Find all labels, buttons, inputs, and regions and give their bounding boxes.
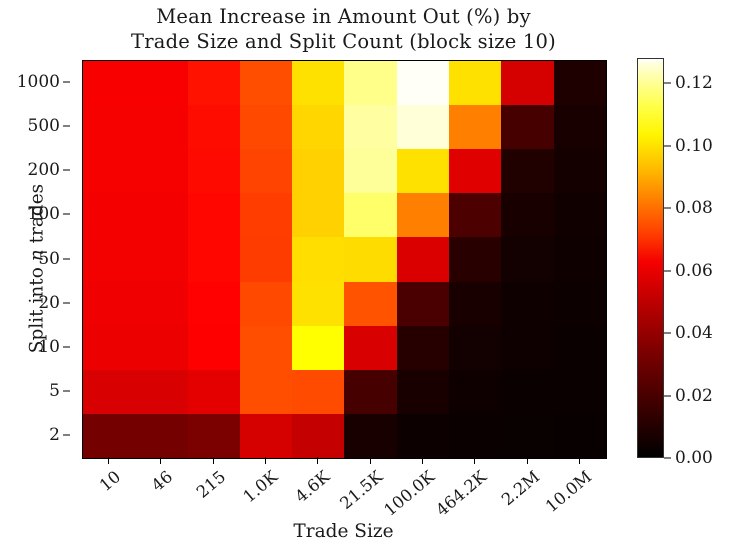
heatmap-cell: [501, 193, 553, 237]
y-tick-mark: [63, 82, 70, 83]
heatmap-cell: [449, 149, 501, 193]
x-tick-label: 1.0K: [239, 467, 281, 506]
colorbar-tick-label: 0.10: [675, 136, 713, 156]
colorbar-tick-label: 0.06: [675, 261, 713, 281]
heatmap-cell: [292, 237, 344, 281]
x-tick-mark: [317, 457, 318, 464]
y-tick-mark: [63, 258, 70, 259]
colorbar: 0.000.020.040.060.080.100.12: [637, 58, 664, 458]
heatmap-cell: [188, 105, 240, 149]
heatmap-cell: [397, 414, 449, 458]
heatmap-cell: [240, 105, 292, 149]
heatmap-cell: [501, 326, 553, 370]
heatmap-cell: [554, 414, 606, 458]
x-tick-label: 2.2M: [497, 467, 542, 509]
heatmap-cell: [240, 370, 292, 414]
heatmap-cell: [240, 414, 292, 458]
heatmap-cell: [83, 193, 135, 237]
heatmap-cell: [344, 414, 396, 458]
heatmap-cell: [449, 326, 501, 370]
heatmap-cell: [188, 370, 240, 414]
y-tick-label: 2: [49, 425, 60, 445]
x-tick-mark: [108, 457, 109, 464]
x-tick-label: 21.5K: [336, 467, 386, 513]
heatmap-cell: [397, 105, 449, 149]
heatmap-cell: [397, 326, 449, 370]
x-tick-mark: [474, 457, 475, 464]
heatmap-cell: [83, 237, 135, 281]
heatmap-cell: [188, 149, 240, 193]
x-axis-ticks: 10462151.0K4.6K21.5K100.0K464.2K2.2M10.0…: [82, 457, 605, 517]
heatmap-cell: [83, 414, 135, 458]
heatmap-cell: [240, 61, 292, 105]
heatmap-cell: [344, 61, 396, 105]
colorbar-tick-mark: [664, 208, 671, 209]
colorbar-ticks: 0.000.020.040.060.080.100.12: [664, 58, 738, 458]
heatmap-cell: [188, 282, 240, 326]
colorbar-tick-label: 0.12: [675, 73, 713, 93]
heatmap-cell: [240, 326, 292, 370]
chart-title: Mean Increase in Amount Out (%) by Trade…: [82, 4, 605, 54]
y-tick-mark: [63, 170, 70, 171]
y-axis-label-prefix: Split into: [27, 261, 48, 353]
heatmap-cell: [554, 61, 606, 105]
x-tick-mark: [370, 457, 371, 464]
x-tick-mark: [527, 457, 528, 464]
heatmap-cell: [501, 370, 553, 414]
heatmap-cell: [188, 326, 240, 370]
heatmap-cell: [83, 149, 135, 193]
heatmap-plot-area: [82, 60, 607, 459]
x-tick-mark: [579, 457, 580, 464]
heatmap-cell: [188, 61, 240, 105]
heatmap-cell: [83, 326, 135, 370]
heatmap-cell: [449, 237, 501, 281]
heatmap-cell: [83, 61, 135, 105]
heatmap-cell: [240, 282, 292, 326]
heatmap-cell: [135, 105, 187, 149]
heatmap-cell: [188, 414, 240, 458]
heatmap-cell: [135, 326, 187, 370]
heatmap-cell: [501, 105, 553, 149]
heatmap-cell: [449, 193, 501, 237]
heatmap-cell: [135, 193, 187, 237]
heatmap-cell: [240, 149, 292, 193]
heatmap-cell: [501, 61, 553, 105]
colorbar-tick-label: 0.04: [675, 323, 713, 343]
heatmap-cell: [554, 193, 606, 237]
colorbar-tick-mark: [664, 83, 671, 84]
heatmap-cell: [554, 326, 606, 370]
heatmap-cell: [344, 193, 396, 237]
y-axis-label-variable: n: [27, 249, 48, 261]
x-tick-mark: [213, 457, 214, 464]
heatmap-cell: [501, 149, 553, 193]
heatmap-cell: [344, 282, 396, 326]
heatmap-cell: [397, 282, 449, 326]
heatmap-cell: [135, 61, 187, 105]
heatmap-cell: [188, 193, 240, 237]
heatmap-cell: [554, 149, 606, 193]
colorbar-tick-mark: [664, 333, 671, 334]
y-tick-mark: [63, 126, 70, 127]
heatmap-cell: [344, 326, 396, 370]
heatmap-cell: [83, 370, 135, 414]
x-tick-label: 4.6K: [292, 467, 334, 506]
heatmap-cell: [397, 149, 449, 193]
chart-title-line-1: Mean Increase in Amount Out (%) by: [82, 4, 605, 29]
colorbar-tick-label: 0.08: [675, 198, 713, 218]
heatmap-cell: [240, 193, 292, 237]
heatmap-cell: [135, 370, 187, 414]
heatmap-cell: [292, 326, 344, 370]
heatmap-cell: [449, 370, 501, 414]
colorbar-tick-mark: [664, 145, 671, 146]
y-tick-mark: [63, 434, 70, 435]
heatmap-cell: [135, 282, 187, 326]
x-tick-label: 10: [96, 467, 124, 495]
heatmap-cell: [292, 282, 344, 326]
heatmap-cell: [344, 149, 396, 193]
heatmap-cell: [83, 282, 135, 326]
heatmap-cell: [554, 237, 606, 281]
x-tick-label: 46: [148, 467, 176, 495]
x-axis-label: Trade Size: [82, 521, 605, 542]
colorbar-gradient: [637, 58, 664, 458]
heatmap-cell: [501, 237, 553, 281]
y-tick-mark: [63, 302, 70, 303]
y-axis-label: Split into n trades: [27, 69, 48, 469]
heatmap-cell: [240, 237, 292, 281]
heatmap-cell: [554, 282, 606, 326]
colorbar-tick-mark: [664, 395, 671, 396]
heatmap-cell: [344, 105, 396, 149]
heatmap-cell: [449, 282, 501, 326]
y-axis-label-suffix: trades: [27, 184, 48, 249]
heatmap-cell: [83, 105, 135, 149]
heatmap-cell: [397, 370, 449, 414]
colorbar-tick-label: 0.00: [675, 448, 713, 468]
heatmap-cell: [135, 149, 187, 193]
heatmap-cell: [501, 414, 553, 458]
heatmap-cell: [135, 414, 187, 458]
heatmap-cell: [397, 61, 449, 105]
heatmap-cell: [449, 105, 501, 149]
heatmap-cell: [292, 370, 344, 414]
heatmap-cell: [449, 414, 501, 458]
heatmap-cell: [292, 414, 344, 458]
heatmap-cell: [292, 105, 344, 149]
colorbar-tick-label: 0.02: [675, 386, 713, 406]
heatmap-cell: [292, 61, 344, 105]
colorbar-tick-mark: [664, 458, 671, 459]
heatmap-cell: [292, 149, 344, 193]
x-tick-label: 215: [193, 467, 229, 502]
heatmap-cell: [135, 237, 187, 281]
colorbar-tick-mark: [664, 270, 671, 271]
x-tick-mark: [422, 457, 423, 464]
heatmap-cell: [397, 193, 449, 237]
x-tick-mark: [160, 457, 161, 464]
y-tick-mark: [63, 390, 70, 391]
heatmap-cell: [344, 370, 396, 414]
y-tick-mark: [63, 214, 70, 215]
x-tick-label: 10.0M: [542, 467, 595, 516]
heatmap-cell: [554, 105, 606, 149]
heatmap-cell: [397, 237, 449, 281]
x-tick-mark: [265, 457, 266, 464]
heatmap-cell: [292, 193, 344, 237]
heatmap-cell: [449, 61, 501, 105]
heatmap-cell: [188, 237, 240, 281]
heatmap-cell: [344, 237, 396, 281]
heatmap-figure: Mean Increase in Amount Out (%) by Trade…: [0, 0, 738, 552]
y-tick-mark: [63, 346, 70, 347]
heatmap-grid: [83, 61, 606, 458]
y-tick-label: 5: [49, 381, 60, 401]
heatmap-cell: [554, 370, 606, 414]
chart-title-line-2: Trade Size and Split Count (block size 1…: [82, 29, 605, 54]
x-tick-label: 464.2K: [433, 467, 491, 520]
heatmap-cell: [501, 282, 553, 326]
x-tick-label: 100.0K: [380, 467, 438, 520]
